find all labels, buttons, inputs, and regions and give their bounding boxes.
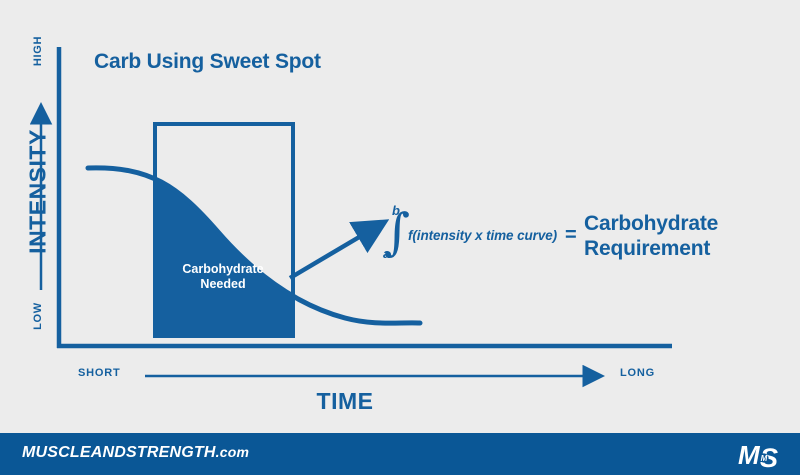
result-line1: Carbohydrate xyxy=(584,212,718,235)
svg-text:M: M xyxy=(761,454,768,463)
footer-brand-text: MUSCLEANDSTRENGTH.com xyxy=(22,444,249,462)
region-label-line1: Carbohydrate xyxy=(182,262,263,276)
x-axis-label: TIME xyxy=(0,388,690,415)
equals-sign: = xyxy=(565,224,577,247)
formula-pointer-arrow xyxy=(290,233,366,278)
integral-formula: b ∫ a f(intensity x time curve)= xyxy=(378,205,577,263)
y-axis-label: INTENSITY xyxy=(25,112,52,272)
footer-brand-suffix: .com xyxy=(216,444,249,460)
integral-symbol-group: b ∫ a xyxy=(378,205,404,263)
svg-text:M: M xyxy=(738,441,761,469)
x-axis-short-tick: SHORT xyxy=(78,367,121,379)
footer-brand-main: MUSCLEANDSTRENGTH xyxy=(22,444,216,461)
y-axis-low-tick: LOW xyxy=(32,289,44,343)
page-title: Carb Using Sweet Spot xyxy=(94,50,321,74)
infographic-canvas: Carb Using Sweet Spot INTENSITY HIGH LOW… xyxy=(0,0,800,475)
region-label-line2: Needed xyxy=(200,277,245,291)
footer-bar: MUSCLEANDSTRENGTH.com M S M xyxy=(0,433,800,475)
integral-expression: f(intensity x time curve) xyxy=(408,228,557,243)
integral-lower-limit: a xyxy=(383,246,390,261)
x-axis-long-tick: LONG xyxy=(620,367,655,379)
carbohydrate-needed-label: Carbohydrate Needed xyxy=(153,262,293,292)
y-axis-high-tick: HIGH xyxy=(32,24,44,78)
carbohydrate-needed-area xyxy=(80,168,420,340)
muscle-and-strength-logo-icon: M S M xyxy=(738,441,784,469)
carbohydrate-requirement-label: Carbohydrate Requirement xyxy=(584,212,718,262)
result-line2: Requirement xyxy=(584,237,710,260)
